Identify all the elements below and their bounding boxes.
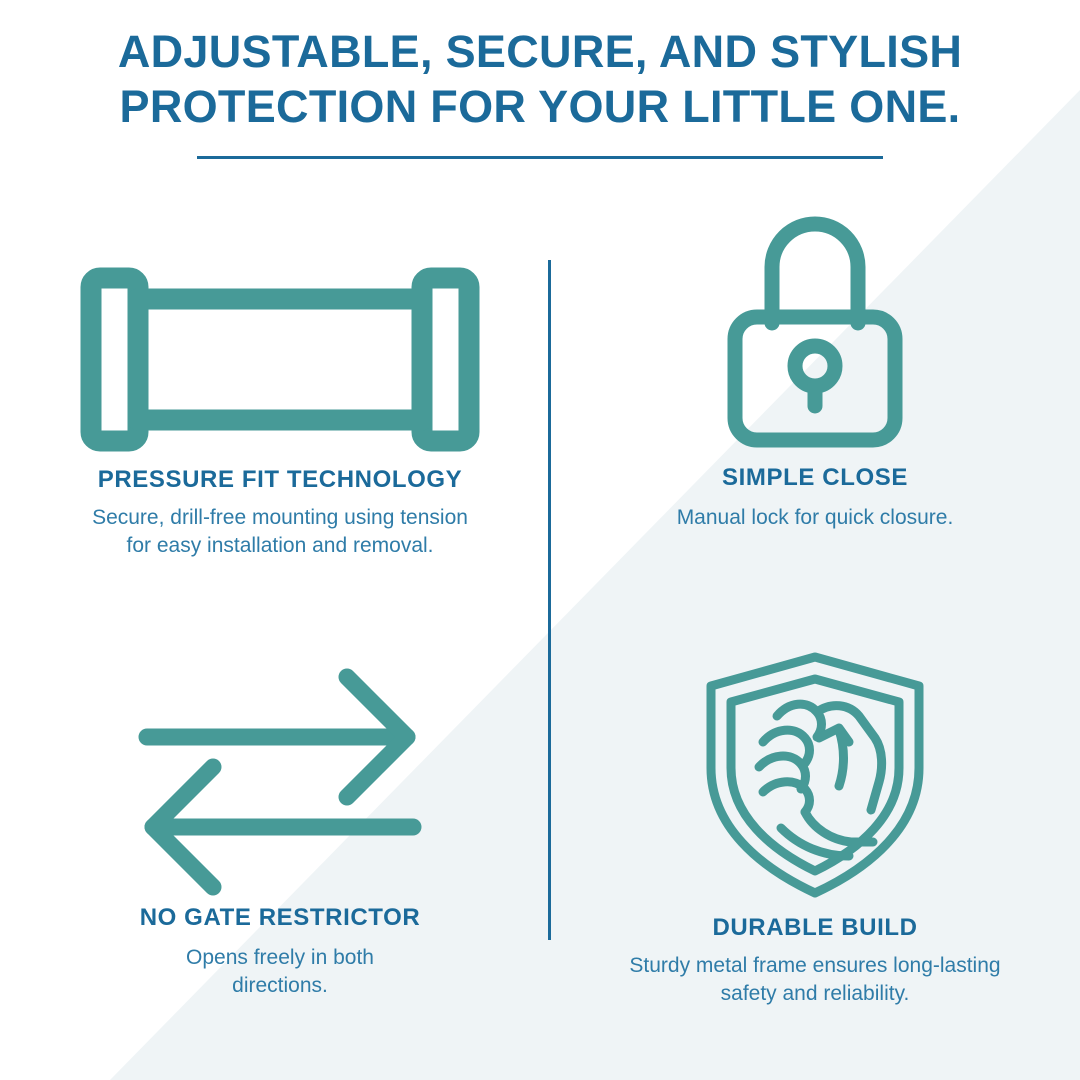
feature-title: NO GATE RESTRICTOR [20,904,540,932]
title-underline-rule [197,156,883,159]
two-way-arrows-icon [135,655,425,890]
header: ADJUSTABLE, SECURE, AND STYLISH PROTECTI… [0,24,1080,159]
feature-description: Manual lock for quick closure. [560,504,1070,532]
feature-description-line-1: Sturdy metal frame ensures long-lasting [560,952,1070,980]
feature-title: PRESSURE FIT TECHNOLOGY [20,466,540,494]
feature-description-line-2: for easy installation and removal. [20,532,540,560]
page-title-line-2: PROTECTION FOR YOUR LITTLE ONE. [0,79,1080,134]
feature-icon-wrapper [20,645,540,890]
feature-durable-build: DURABLE BUILD Sturdy metal frame ensures… [560,640,1070,1008]
feature-description-line-2: directions. [20,972,540,1000]
feature-description: Opens freely in both directions. [20,944,540,1000]
feature-pressure-fit: PRESSURE FIT TECHNOLOGY Secure, drill-fr… [20,262,540,560]
feature-icon-wrapper [20,262,540,452]
feature-description-line-2: safety and reliability. [560,980,1070,1008]
page-title-line-1: ADJUSTABLE, SECURE, AND STYLISH [0,24,1080,79]
shield-fist-icon [703,650,928,900]
feature-description: Sturdy metal frame ensures long-lasting … [560,952,1070,1008]
pressure-roller-icon [80,267,480,452]
feature-description-line-1: Opens freely in both [20,944,540,972]
feature-icon-wrapper [560,640,1070,900]
feature-title: DURABLE BUILD [560,914,1070,942]
feature-description: Secure, drill-free mounting using tensio… [20,504,540,560]
column-divider [548,260,551,940]
feature-title: SIMPLE CLOSE [560,464,1070,492]
feature-no-gate-restrictor: NO GATE RESTRICTOR Opens freely in both … [20,645,540,1000]
infographic-canvas: ADJUSTABLE, SECURE, AND STYLISH PROTECTI… [0,0,1080,1080]
feature-description-line-1: Secure, drill-free mounting using tensio… [20,504,540,532]
feature-icon-wrapper [560,200,1070,450]
padlock-icon [725,205,905,450]
feature-description-line-1: Manual lock for quick closure. [560,504,1070,532]
infographic-content: ADJUSTABLE, SECURE, AND STYLISH PROTECTI… [0,0,1080,1080]
feature-simple-close: SIMPLE CLOSE Manual lock for quick closu… [560,200,1070,532]
